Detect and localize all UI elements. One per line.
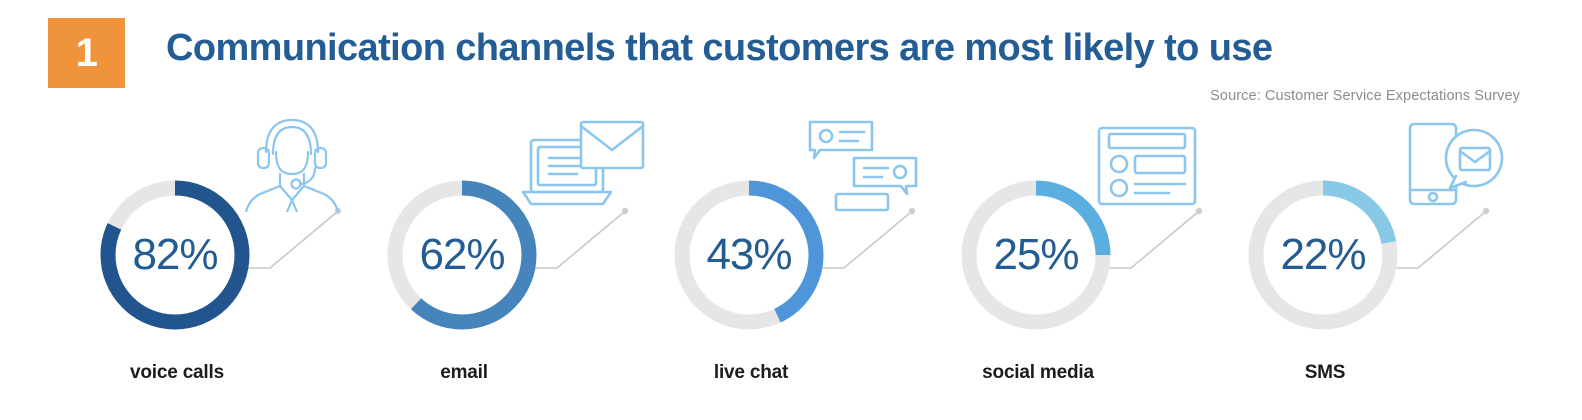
donut-value-email: 62% [383, 176, 541, 334]
donut-chart-social-media: 25% [957, 176, 1115, 334]
rank-badge: 1 [48, 18, 125, 88]
channel-cell-email: 62% email [369, 110, 656, 420]
donut-chart-voice-calls: 82% [96, 176, 254, 334]
header: 1 Communication channels that customers … [0, 0, 1582, 118]
channel-cell-sms: 22% SMS [1230, 110, 1517, 420]
infographic-root: 1 Communication channels that customers … [0, 0, 1582, 420]
donut-chart-email: 62% [383, 176, 541, 334]
channel-label-voice-calls: voice calls [82, 362, 272, 384]
channel-cell-social-media: 25% social media [943, 110, 1230, 420]
donut-value-live-chat: 43% [670, 176, 828, 334]
channel-cell-voice-calls: 82% voice calls [82, 110, 369, 420]
source-attribution: Source: Customer Service Expectations Su… [1210, 88, 1520, 104]
donut-chart-sms: 22% [1244, 176, 1402, 334]
page-title: Communication channels that customers ar… [166, 27, 1272, 70]
donut-chart-row: 82% voice calls [0, 110, 1582, 420]
rank-badge-number: 1 [76, 33, 98, 73]
channel-label-social-media: social media [943, 362, 1133, 384]
donut-value-sms: 22% [1244, 176, 1402, 334]
channel-cell-live-chat: 43% live chat [656, 110, 943, 420]
channel-label-email: email [369, 362, 559, 384]
channel-label-live-chat: live chat [656, 362, 846, 384]
headset-agent-icon [240, 108, 344, 212]
donut-value-voice-calls: 82% [96, 176, 254, 334]
donut-chart-live-chat: 43% [670, 176, 828, 334]
phone-message-icon [1400, 118, 1506, 210]
channel-label-sms: SMS [1230, 362, 1420, 384]
donut-value-social-media: 25% [957, 176, 1115, 334]
